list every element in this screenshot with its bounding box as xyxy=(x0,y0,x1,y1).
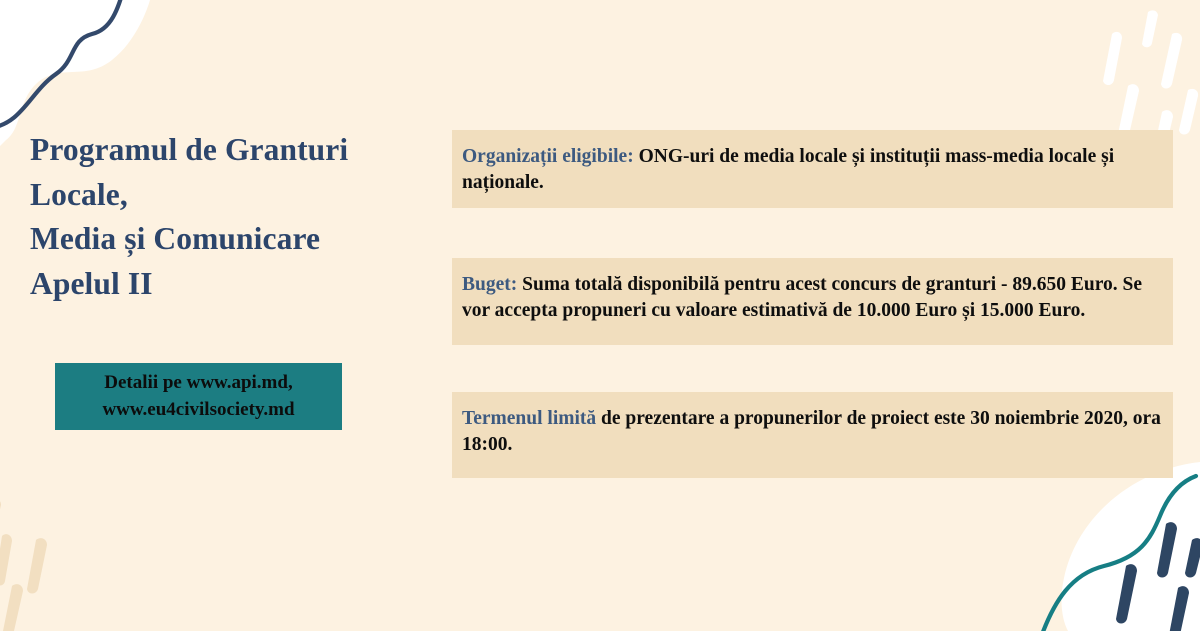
bottom-right-teal-curve xyxy=(1040,476,1196,631)
title-line-1: Programul de Granturi xyxy=(30,128,430,173)
info-box-3-text: Termenul limită de prezentare a propuner… xyxy=(462,406,1161,458)
top-left-white-blob-extra xyxy=(0,0,128,118)
info-box-1-text: Organizații eligibile: ONG-uri de media … xyxy=(462,144,1161,196)
info-box-eligible-organizations: Organizații eligibile: ONG-uri de media … xyxy=(452,130,1173,208)
info-box-2-text: Buget: Suma totală disponibilă pentru ac… xyxy=(462,272,1161,324)
details-cta-box[interactable]: Detalii pe www.api.md, www.eu4civilsocie… xyxy=(55,363,342,430)
info-box-2-label: Buget: xyxy=(462,274,517,295)
cta-line-1: Detalii pe www.api.md, xyxy=(104,370,292,396)
info-box-budget: Buget: Suma totală disponibilă pentru ac… xyxy=(452,258,1173,345)
top-left-navy-curve xyxy=(0,0,124,128)
page-title: Programul de Granturi Locale, Media și C… xyxy=(30,128,430,307)
info-box-3-label: Termenul limită xyxy=(462,408,596,429)
title-line-2: Locale, xyxy=(30,173,430,218)
title-line-3: Media și Comunicare xyxy=(30,217,430,262)
bottom-left-tan-dashes xyxy=(0,498,47,631)
cta-line-2: www.eu4civilsociety.md xyxy=(102,397,294,423)
top-left-white-blob xyxy=(0,0,150,146)
title-line-4: Apelul II xyxy=(30,262,430,307)
bottom-right-white-blob xyxy=(1061,462,1200,631)
info-box-deadline: Termenul limită de prezentare a propuner… xyxy=(452,392,1173,478)
info-box-1-label: Organizații eligibile: xyxy=(462,146,634,167)
bottom-right-navy-dashes xyxy=(1116,522,1200,631)
info-box-2-body: Suma totală disponibilă pentru acest con… xyxy=(462,274,1142,321)
poster-canvas: Programul de Granturi Locale, Media și C… xyxy=(0,0,1200,631)
